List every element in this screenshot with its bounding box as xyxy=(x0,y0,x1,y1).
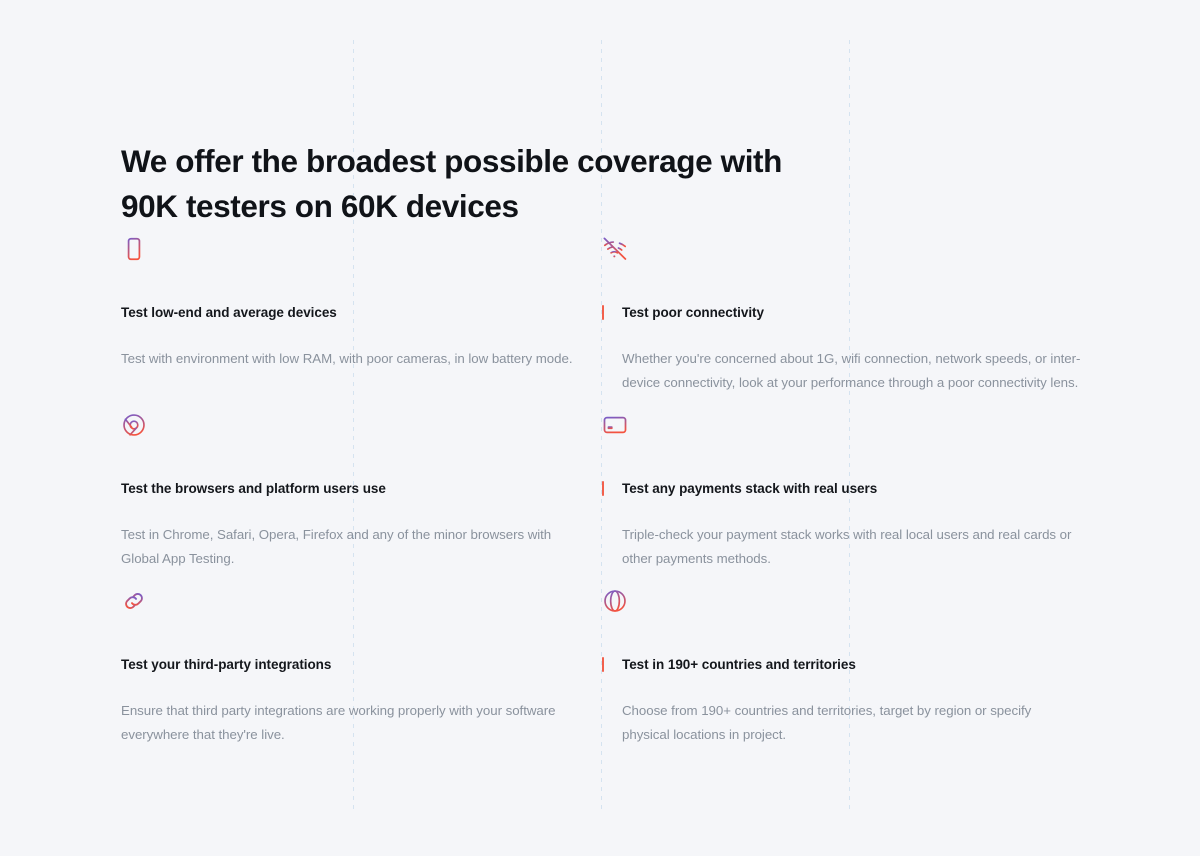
feature-title: Test in 190+ countries and territories xyxy=(602,656,1082,674)
heading-line-2: 90K testers on 60K devices xyxy=(121,184,881,229)
credit-card-icon xyxy=(602,412,1082,446)
feature-description: Whether you're concerned about 1G, wifi … xyxy=(602,347,1082,394)
feature-description: Triple-check your payment stack works wi… xyxy=(602,523,1082,570)
feature-title-text: Test in 190+ countries and territories xyxy=(622,657,856,672)
feature-card: Test any payments stack with real users … xyxy=(602,412,1082,570)
feature-title: Test the browsers and platform users use xyxy=(121,480,591,498)
feature-row: Test low-end and average devices Test wi… xyxy=(0,236,1200,412)
feature-title: Test poor connectivity xyxy=(602,304,1082,322)
feature-title: Test low-end and average devices xyxy=(121,304,591,322)
feature-title-text: Test any payments stack with real users xyxy=(622,481,877,496)
feature-title: Test any payments stack with real users xyxy=(602,480,1082,498)
feature-card: Test low-end and average devices Test wi… xyxy=(121,236,591,371)
feature-description: Test in Chrome, Safari, Opera, Firefox a… xyxy=(121,523,591,570)
coverage-section: We offer the broadest possible coverage … xyxy=(0,0,1200,856)
feature-description: Ensure that third party integrations are… xyxy=(121,699,591,746)
feature-row: Test the browsers and platform users use… xyxy=(0,412,1200,588)
chrome-browser-icon xyxy=(121,412,591,446)
wifi-off-icon xyxy=(602,236,1082,270)
accent-bar xyxy=(602,305,604,320)
feature-row: Test your third-party integrations Ensur… xyxy=(0,588,1200,764)
feature-card: Test poor connectivity Whether you're co… xyxy=(602,236,1082,394)
heading-line-1: We offer the broadest possible coverage … xyxy=(121,139,881,184)
feature-title: Test your third-party integrations xyxy=(121,656,591,674)
link-chain-icon xyxy=(121,588,591,622)
feature-card: Test in 190+ countries and territories C… xyxy=(602,588,1082,746)
section-heading: We offer the broadest possible coverage … xyxy=(121,139,881,229)
accent-bar xyxy=(602,481,604,496)
feature-card: Test the browsers and platform users use… xyxy=(121,412,591,570)
feature-description: Test with environment with low RAM, with… xyxy=(121,347,591,371)
feature-grid: Test low-end and average devices Test wi… xyxy=(0,236,1200,764)
feature-description: Choose from 190+ countries and territori… xyxy=(602,699,1082,746)
smartphone-icon xyxy=(121,236,591,270)
feature-card: Test your third-party integrations Ensur… xyxy=(121,588,591,746)
feature-title-text: Test poor connectivity xyxy=(622,305,764,320)
accent-bar xyxy=(602,657,604,672)
globe-icon xyxy=(602,588,1082,622)
